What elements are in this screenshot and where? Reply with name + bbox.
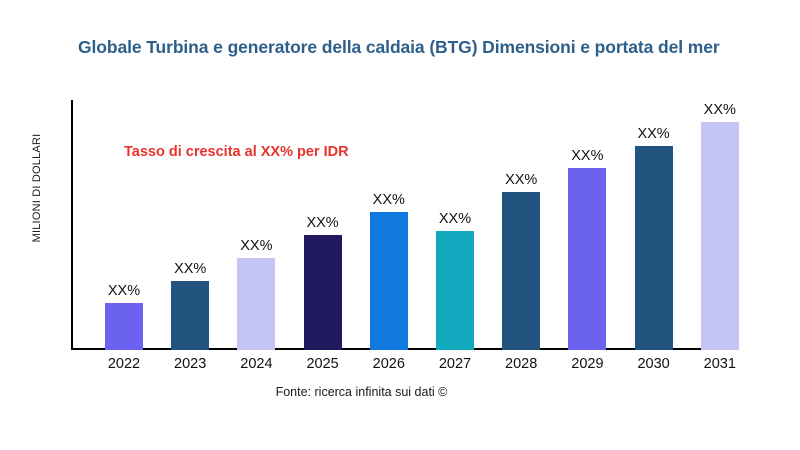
bar-value-label: XX% [240, 238, 272, 254]
page-title: Globale Turbina e generatore della calda… [78, 36, 800, 58]
x-tick-2023: 2023 [160, 356, 220, 372]
bar-value-label: XX% [704, 102, 736, 118]
bar-group: XX% [568, 100, 606, 350]
bar-group: XX% [237, 100, 275, 350]
source-note: Fonte: ricerca infinita sui dati © [0, 385, 723, 399]
x-tick-2026: 2026 [359, 356, 419, 372]
bar-2027[interactable] [436, 231, 474, 350]
bar-group: XX% [370, 100, 408, 350]
bar-2023[interactable] [171, 281, 209, 350]
bar-value-label: XX% [637, 126, 669, 142]
bar-2028[interactable] [502, 192, 540, 350]
bar-value-label: XX% [373, 192, 405, 208]
x-tick-2027: 2027 [425, 356, 485, 372]
bar-2030[interactable] [635, 146, 673, 350]
bar-value-label: XX% [306, 215, 338, 231]
x-tick-2031: 2031 [690, 356, 750, 372]
bar-2026[interactable] [370, 212, 408, 350]
x-tick-2028: 2028 [491, 356, 551, 372]
y-axis-label: MILIONI DI DOLLARI [31, 88, 43, 288]
bar-2031[interactable] [701, 122, 739, 350]
bar-2022[interactable] [105, 303, 143, 350]
bar-group: XX% [502, 100, 540, 350]
bar-2025[interactable] [304, 235, 342, 350]
bar-2029[interactable] [568, 168, 606, 350]
bar-value-label: XX% [108, 283, 140, 299]
bar-value-label: XX% [174, 261, 206, 277]
chart-figure: Globale Turbina e generatore della calda… [0, 0, 800, 450]
x-tick-2022: 2022 [94, 356, 154, 372]
bar-2024[interactable] [237, 258, 275, 350]
x-tick-2029: 2029 [557, 356, 617, 372]
bar-group: XX% [436, 100, 474, 350]
bar-value-label: XX% [505, 172, 537, 188]
x-tick-2025: 2025 [293, 356, 353, 372]
plot-area: XX%XX%XX%XX%XX%XX%XX%XX%XX%XX% [71, 100, 800, 350]
bar-group: XX% [171, 100, 209, 350]
bar-group: XX% [304, 100, 342, 350]
x-tick-2024: 2024 [226, 356, 286, 372]
bar-group: XX% [701, 100, 739, 350]
bar-group: XX% [105, 100, 143, 350]
x-tick-2030: 2030 [624, 356, 684, 372]
bar-group: XX% [635, 100, 673, 350]
y-axis-line [71, 100, 73, 350]
bar-value-label: XX% [571, 148, 603, 164]
bar-value-label: XX% [439, 211, 471, 227]
